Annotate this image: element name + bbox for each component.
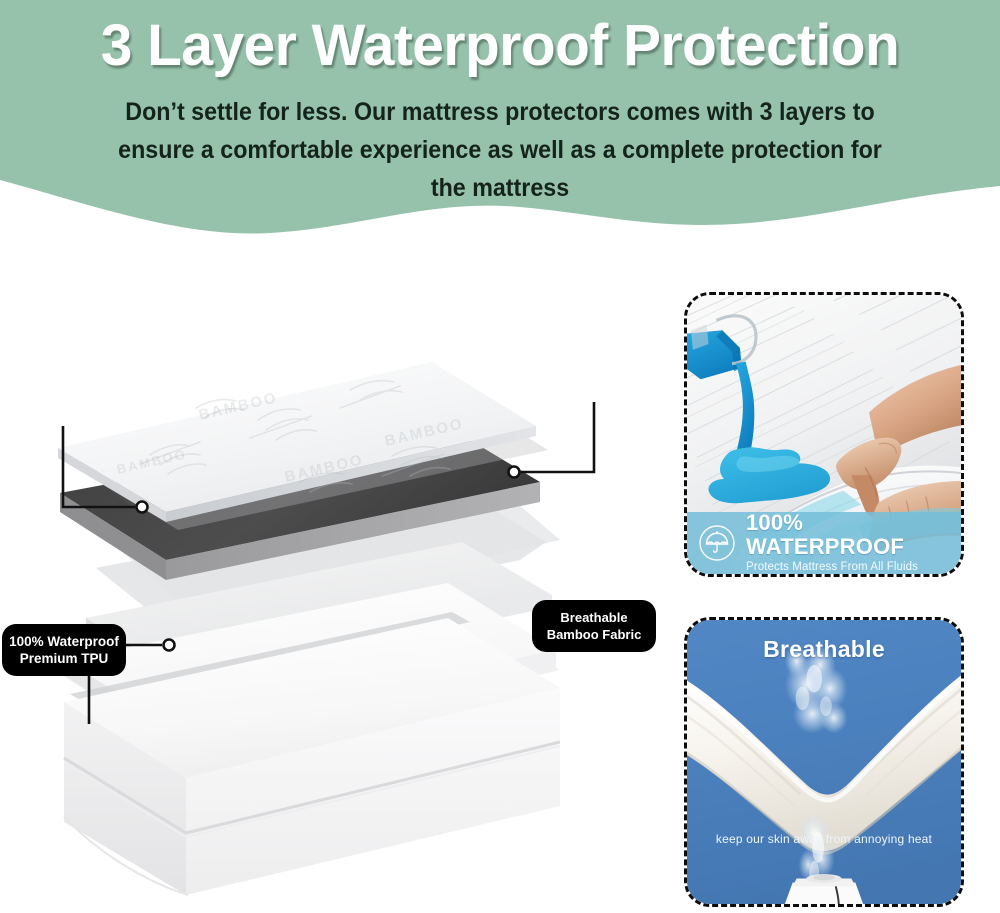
header-banner: 3 Layer Waterproof Protection Don’t sett… — [0, 0, 1000, 245]
layer-diagram-illustration: BAMBOO BAMBOO BAMBOO BAMBOO — [0, 250, 660, 913]
callout-tpu-text: 100% Waterproof Premium TPU — [8, 633, 120, 667]
waterproof-title: 100% WATERPROOF — [746, 511, 961, 559]
humidifier — [785, 874, 863, 904]
waterproof-caption-band: 100% WATERPROOF Protects Mattress From A… — [687, 512, 961, 574]
breathable-caption: keep our skin away from annoying heat — [687, 832, 961, 846]
page-title: 3 Layer Waterproof Protection — [10, 14, 990, 78]
waterproof-text-group: 100% WATERPROOF Protects Mattress From A… — [746, 511, 961, 575]
callout-bamboo-fabric: Breathable Bamboo Fabric — [532, 600, 656, 652]
infographic-root: 3 Layer Waterproof Protection Don’t sett… — [0, 0, 1000, 913]
feature-card-breathable: Breathable keep our skin away from annoy… — [684, 617, 964, 907]
umbrella-icon — [697, 523, 737, 563]
waterproof-subtitle: Protects Mattress From All Fluids — [746, 559, 961, 575]
callout-bamboo-text: Breathable Bamboo Fabric — [538, 609, 650, 643]
breathable-title: Breathable — [687, 636, 961, 663]
callout-waterproof-tpu: 100% Waterproof Premium TPU — [2, 624, 126, 676]
feature-card-waterproof: 100% WATERPROOF Protects Mattress From A… — [684, 292, 964, 577]
layer-diagram: BAMBOO BAMBOO BAMBOO BAMBOO — [0, 250, 660, 913]
header-text-block: 3 Layer Waterproof Protection Don’t sett… — [0, 0, 1000, 215]
page-subtitle: Don’t settle for less. Our mattress prot… — [100, 93, 900, 207]
